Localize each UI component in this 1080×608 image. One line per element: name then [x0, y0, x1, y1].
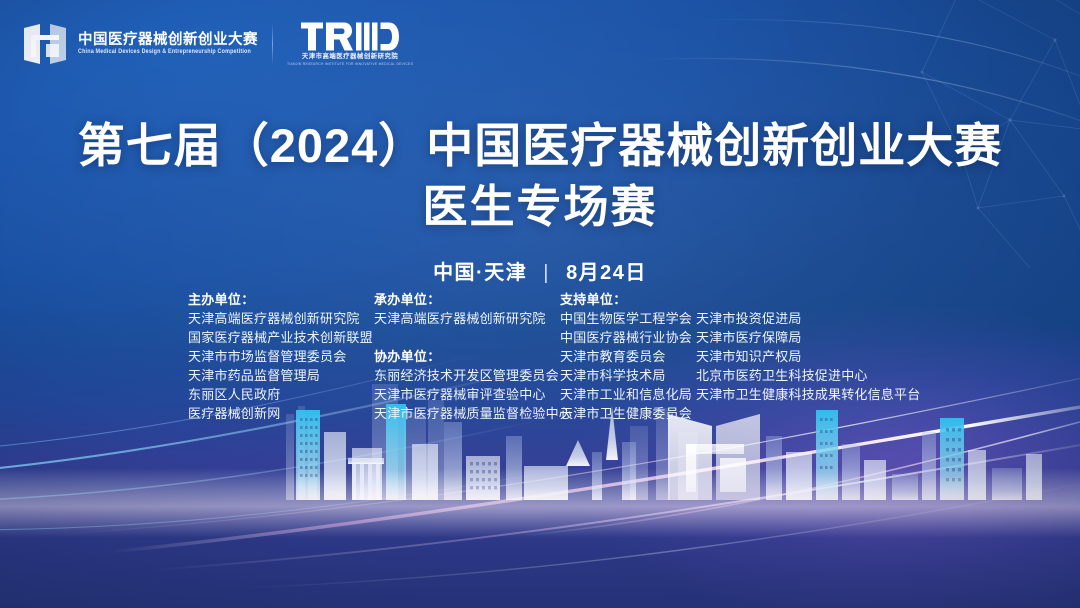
- poster-canvas: 中国医疗器械创新创业大赛 China Medical Devices Desig…: [0, 0, 1080, 608]
- background-vignette: [0, 0, 1080, 608]
